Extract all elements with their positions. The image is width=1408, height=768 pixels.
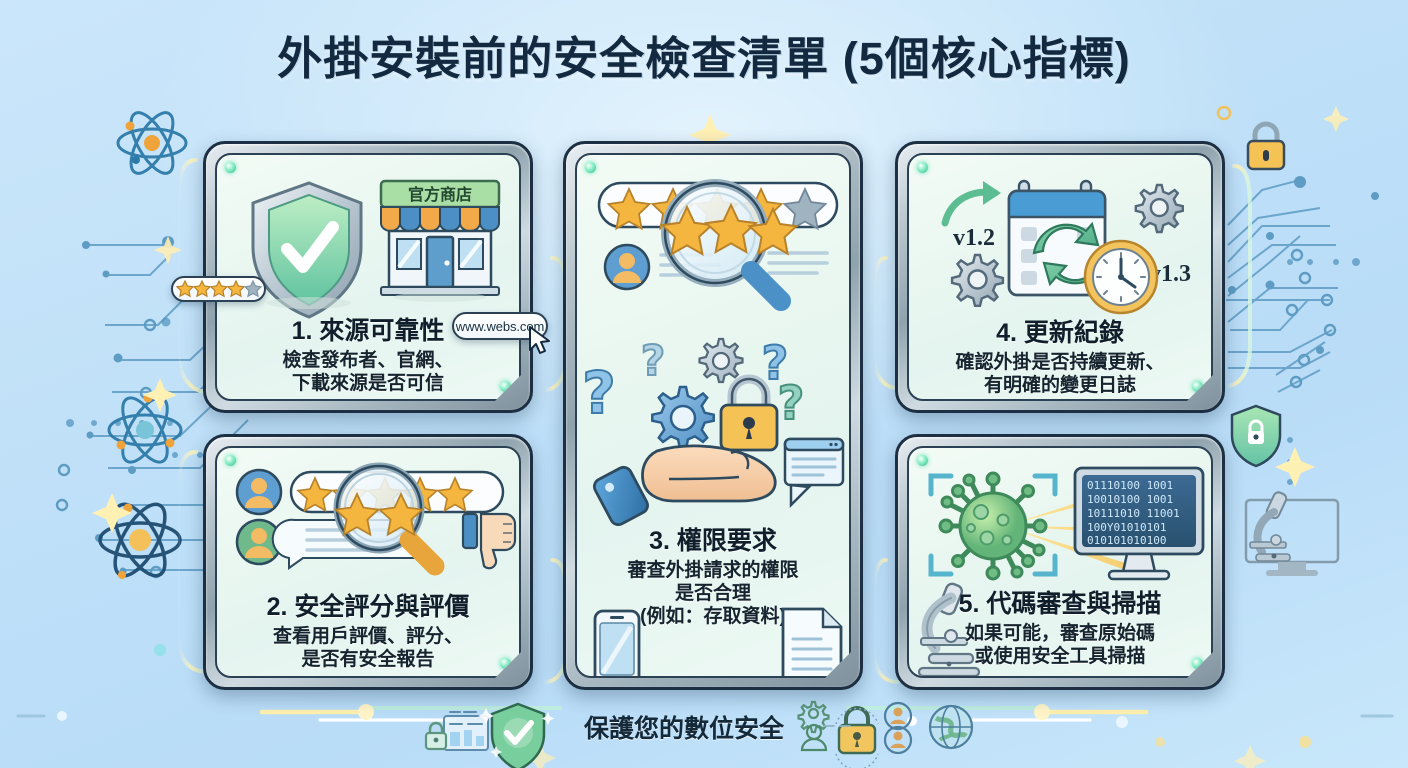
card-5-artwork: 01110100 1001 10010100 1001 10111010 110… <box>909 460 1211 586</box>
user-avatar-icon <box>237 470 281 514</box>
padlock-icon <box>1248 124 1284 169</box>
gear-icon <box>1136 185 1183 232</box>
card-5-desc-line-2: 或使用安全工具掃描 <box>917 645 1203 668</box>
card-2-desc-line-2: 是否有安全報告 <box>225 648 511 671</box>
padlock-privacy-icon <box>836 708 878 768</box>
card-4-desc-line-2: 有明確的變更日誌 <box>917 374 1203 397</box>
svg-text:10010100 1001: 10010100 1001 <box>1087 493 1173 506</box>
gear-icon <box>700 339 743 382</box>
card-5-text: 5. 代碼審查與掃描 如果可能，審查原始碼 或使用安全工具掃描 <box>909 590 1211 668</box>
card-1-desc: 檢查發布者、官網、 下載來源是否可信 <box>225 349 511 395</box>
card-5-desc-line-1: 如果可能，審查原始碼 <box>917 622 1203 645</box>
page-title-wrap: 外掛安裝前的安全檢查清單 (5個核心指標) <box>0 22 1408 87</box>
card-4-desc: 確認外掛是否持續更新、 有明確的變更日誌 <box>917 351 1203 397</box>
globe-icon <box>930 706 972 748</box>
footer-text: 保護您的數位安全 <box>584 709 784 745</box>
card-1-desc-line-2: 下載來源是否可信 <box>225 372 511 395</box>
star-rating-badge[interactable] <box>171 276 266 302</box>
card-4-artwork: v1.2 v1.3 <box>909 167 1211 313</box>
version-from-label: v1.2 <box>953 225 995 251</box>
gear-icon <box>799 702 829 732</box>
card-5-inner: 01110100 1001 10010100 1001 10111010 110… <box>907 446 1213 678</box>
card-2-inner: 2. 安全評分與評價 查看用戶評價、評分、 是否有安全報告 <box>215 446 521 678</box>
shield-check-icon <box>253 183 361 317</box>
lock-dashboard-icon <box>426 712 488 750</box>
card-2-desc: 查看用戶評價、評分、 是否有安全報告 <box>225 625 511 671</box>
svg-text:?: ? <box>641 336 665 385</box>
card-3-artwork-mid: ? ? ? ? <box>577 327 849 517</box>
card-2-text: 2. 安全評分與評價 查看用戶評價、評分、 是否有安全報告 <box>217 593 519 671</box>
svg-text:10111010 11001: 10111010 11001 <box>1087 507 1180 520</box>
monitor-binary-icon: 01110100 1001 10010100 1001 10111010 110… <box>1075 468 1203 579</box>
card-2-desc-line-1: 查看用戶評價、評分、 <box>225 625 511 648</box>
chat-bubble-icon <box>785 439 843 505</box>
binary-code-text: 01110100 1001 10010100 1001 10111010 110… <box>1087 479 1180 547</box>
card-5-desc: 如果可能，審查原始碼 或使用安全工具掃描 <box>917 622 1203 668</box>
card-4-title: 4. 更新紀錄 <box>917 319 1203 348</box>
shield-check-icon <box>492 704 544 768</box>
card-3-artwork-top <box>577 171 849 313</box>
card-5-title: 5. 代碼審查與掃描 <box>917 590 1203 619</box>
checklist-card-3[interactable]: ? ? ? ? <box>563 141 863 690</box>
card-3-desc-line-1: 審查外掛請求的權限 <box>585 559 841 582</box>
user-avatar-icon <box>885 703 911 729</box>
svg-text:01110100 1001: 01110100 1001 <box>1087 479 1173 492</box>
page-title: 外掛安裝前的安全檢查清單 (5個核心指標) <box>277 22 1131 87</box>
store-sign-text: 官方商店 <box>408 185 472 204</box>
card-4-text: 4. 更新紀錄 確認外掛是否持續更新、 有明確的變更日誌 <box>909 319 1211 397</box>
card-3-title: 3. 權限要求 <box>585 527 841 556</box>
card-1-inner: 官方商店 <box>215 153 521 401</box>
footer: 保護您的數位安全 <box>0 696 1408 758</box>
atom-icon <box>109 391 181 468</box>
storefront-icon: 官方商店 <box>381 181 499 295</box>
footer-right-icons <box>798 700 988 754</box>
clock-icon <box>1085 241 1157 313</box>
svg-text:100Y01010101: 100Y01010101 <box>1087 521 1166 534</box>
gear-icon <box>652 387 713 448</box>
card-2-artwork <box>217 462 519 582</box>
mouse-cursor-icon <box>528 326 554 356</box>
card-2-title: 2. 安全評分與評價 <box>225 593 511 622</box>
user-avatar-icon <box>605 245 649 289</box>
card-3-artwork-bottom <box>577 607 849 678</box>
svg-text:?: ? <box>778 376 805 430</box>
card-3-inner: ? ? ? ? <box>575 153 851 678</box>
document-icon <box>783 609 841 678</box>
open-hand-icon <box>592 446 776 528</box>
user-avatar-icon <box>885 727 911 753</box>
card-4-desc-line-1: 確認外掛是否持續更新、 <box>917 351 1203 374</box>
curved-arrow-icon <box>945 181 1001 223</box>
checklist-card-5[interactable]: 01110100 1001 10010100 1001 10111010 110… <box>895 434 1225 690</box>
shield-lock-icon <box>1232 406 1280 466</box>
atom-icon <box>100 497 180 583</box>
microscope-monitor-icon <box>1246 491 1338 576</box>
star-rating-icon <box>176 280 262 298</box>
thumbs-down-icon <box>463 514 515 568</box>
card-3-desc-line-2: 是否合理 <box>585 582 841 605</box>
checklist-card-4[interactable]: v1.2 v1.3 <box>895 141 1225 413</box>
svg-text:?: ? <box>582 359 616 427</box>
svg-text:010101010100: 010101010100 <box>1087 534 1166 547</box>
card-4-inner: v1.2 v1.3 <box>907 153 1213 401</box>
card-1-desc-line-1: 檢查發布者、官網、 <box>225 349 511 372</box>
footer-left-icons <box>420 700 570 754</box>
gear-icon <box>952 255 1003 306</box>
virus-icon <box>940 473 1046 579</box>
infographic-stage: 外掛安裝前的安全檢查清單 (5個核心指標) <box>0 0 1408 768</box>
padlock-icon <box>721 379 777 450</box>
atom-icon <box>118 107 186 180</box>
checklist-card-2[interactable]: 2. 安全評分與評價 查看用戶評價、評分、 是否有安全報告 <box>203 434 533 690</box>
smartphone-icon <box>595 611 639 678</box>
